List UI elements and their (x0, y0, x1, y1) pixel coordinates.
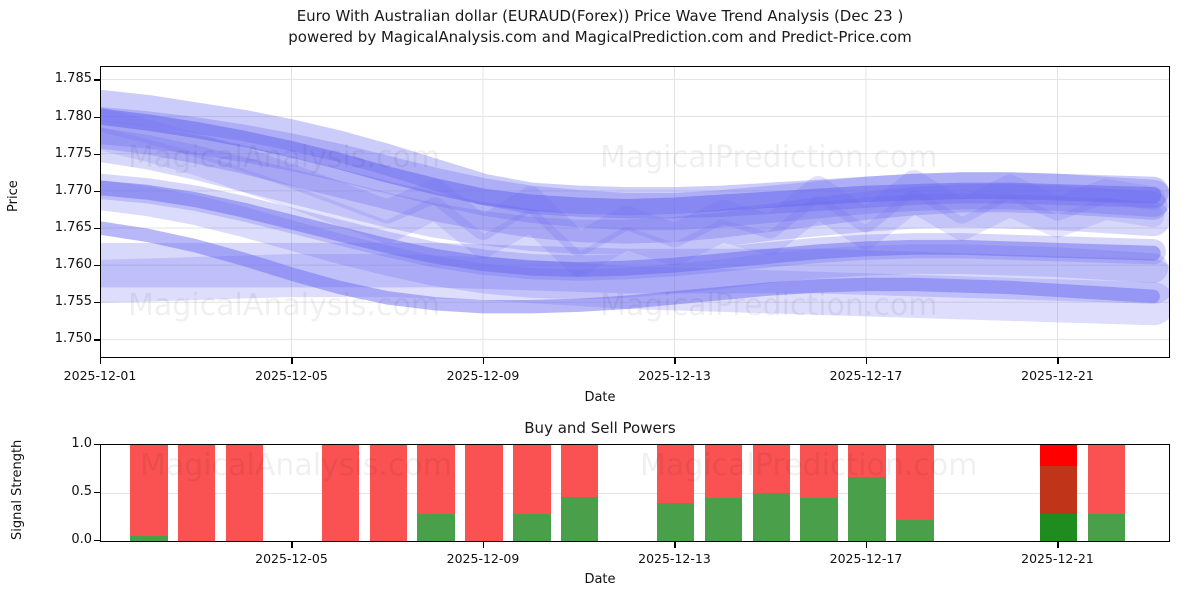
signal-bar-sell-segment (226, 445, 263, 541)
signal-bar[interactable] (513, 445, 550, 541)
signal-bar-sell-segment (800, 445, 837, 498)
signal-bar[interactable] (178, 445, 215, 541)
signal-bar[interactable] (800, 445, 837, 541)
price-x-tick-label: 2025-12-21 (987, 368, 1127, 383)
signal-x-tick-mark (1057, 542, 1058, 548)
signal-bar[interactable] (848, 445, 885, 541)
signal-y-tick-mark (94, 492, 100, 493)
price-x-tick-label: 2025-12-05 (221, 368, 361, 383)
page-subtitle: powered by MagicalAnalysis.com and Magic… (0, 27, 1200, 48)
signal-bar-buy-segment (848, 477, 885, 541)
signal-chart-title: Buy and Sell Powers (0, 419, 1200, 437)
price-y-tick-mark (94, 154, 100, 155)
signal-bar-buy-segment (561, 497, 598, 541)
price-y-tick-mark (94, 265, 100, 266)
signal-bar-sell-segment (130, 445, 167, 536)
signal-bar-buy-segment (1040, 514, 1077, 541)
price-x-tick-mark (483, 358, 484, 364)
signal-bar-sell-segment-strong (1040, 445, 1077, 466)
signal-bar-sell-segment (513, 445, 550, 514)
price-y-tick-label: 1.780 (0, 109, 92, 124)
signal-chart-plot-area (100, 444, 1170, 542)
price-y-tick-mark (94, 79, 100, 80)
price-x-tick-mark (866, 358, 867, 364)
price-x-tick-mark (291, 358, 292, 364)
signal-bar-sell-segment (657, 445, 694, 503)
signal-bar[interactable] (130, 445, 167, 541)
signal-bar-buy-segment (513, 514, 550, 541)
price-wave-clip (101, 67, 1169, 357)
signal-bar-sell-segment (370, 445, 407, 541)
signal-x-tick-mark (866, 542, 867, 548)
signal-bar-buy-segment (130, 536, 167, 541)
price-y-tick-label: 1.750 (0, 331, 92, 346)
signal-bar-sell-segment (322, 445, 359, 541)
signal-y-tick-label: 0.5 (0, 484, 92, 499)
signal-x-tick-label: 2025-12-09 (413, 551, 553, 566)
signal-bar[interactable] (322, 445, 359, 541)
signal-y-tick-label: 1.0 (0, 436, 92, 451)
price-y-tick-label: 1.785 (0, 71, 92, 86)
signal-bar[interactable] (1088, 445, 1125, 541)
price-y-tick-mark (94, 191, 100, 192)
price-x-tick-label: 2025-12-09 (413, 368, 553, 383)
signal-x-tick-label: 2025-12-21 (987, 551, 1127, 566)
signal-x-axis-label: Date (0, 572, 1200, 587)
signal-bar-sell-segment (705, 445, 742, 498)
price-y-tick-label: 1.770 (0, 183, 92, 198)
signal-bar[interactable] (896, 445, 933, 541)
price-x-tick-label: 2025-12-13 (604, 368, 744, 383)
signal-bar-buy-segment (417, 514, 454, 541)
signal-bar[interactable] (465, 445, 502, 541)
signal-y-tick-mark (94, 444, 100, 445)
signal-x-tick-mark (483, 542, 484, 548)
signal-bar-sell-segment (417, 445, 454, 514)
signal-bar-sell-segment (753, 445, 790, 493)
signal-bar[interactable] (753, 445, 790, 541)
signal-bar-sell-segment (465, 445, 502, 541)
signal-bar[interactable] (705, 445, 742, 541)
page-title: Euro With Australian dollar (EURAUD(Fore… (0, 6, 1200, 27)
price-x-tick-mark (674, 358, 675, 364)
price-y-tick-mark (94, 339, 100, 340)
signal-bar-sell-segment (561, 445, 598, 497)
signal-bar-sell-segment (1040, 466, 1077, 514)
price-y-tick-mark (94, 302, 100, 303)
price-x-tick-mark (100, 358, 101, 364)
price-wave-svg (101, 67, 1169, 357)
signal-bar[interactable] (417, 445, 454, 541)
signal-x-tick-label: 2025-12-13 (604, 551, 744, 566)
signal-bar-buy-segment (800, 498, 837, 541)
price-x-tick-label: 2025-12-17 (796, 368, 936, 383)
price-y-tick-mark (94, 228, 100, 229)
signal-bar-sell-segment (178, 445, 215, 541)
signal-x-tick-mark (291, 542, 292, 548)
signal-bar[interactable] (370, 445, 407, 541)
signal-bar-buy-segment (753, 493, 790, 541)
signal-y-tick-mark (94, 540, 100, 541)
signal-x-tick-mark (674, 542, 675, 548)
price-y-tick-mark (94, 117, 100, 118)
signal-bar[interactable] (657, 445, 694, 541)
price-x-tick-mark (1057, 358, 1058, 364)
price-x-axis-label: Date (0, 390, 1200, 405)
signal-bar-sell-segment (1088, 445, 1125, 514)
signal-bar[interactable] (226, 445, 263, 541)
signal-bar-sell-segment (896, 445, 933, 520)
signal-bar[interactable] (1040, 445, 1077, 541)
signal-bar-buy-segment (705, 498, 742, 541)
signal-bar-buy-segment (896, 520, 933, 541)
signal-x-tick-label: 2025-12-17 (796, 551, 936, 566)
price-y-tick-label: 1.765 (0, 220, 92, 235)
signal-x-tick-label: 2025-12-05 (221, 551, 361, 566)
signal-y-tick-label: 0.0 (0, 532, 92, 547)
price-y-tick-label: 1.760 (0, 257, 92, 272)
price-y-tick-label: 1.775 (0, 146, 92, 161)
signal-bar[interactable] (561, 445, 598, 541)
signal-bar-buy-segment (657, 503, 694, 541)
price-x-tick-label: 2025-12-01 (30, 368, 170, 383)
signal-bar-buy-segment (1088, 514, 1125, 541)
signal-bar-sell-segment (848, 445, 885, 477)
price-y-tick-label: 1.755 (0, 294, 92, 309)
price-chart-plot-area (100, 66, 1170, 358)
chart-title-block: Euro With Australian dollar (EURAUD(Fore… (0, 6, 1200, 48)
